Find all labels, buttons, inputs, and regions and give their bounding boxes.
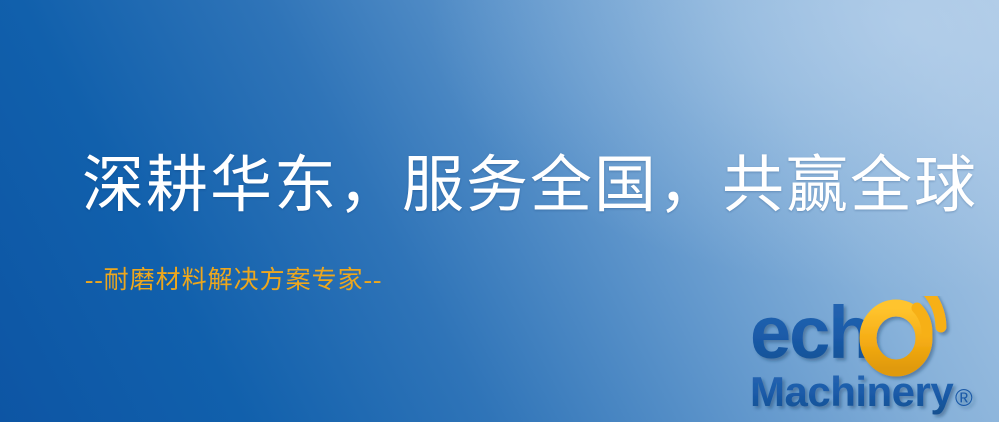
company-logo[interactable]: ech Machinery ® echo Machinery ® (744, 296, 996, 420)
svg-text:Machinery: Machinery (750, 368, 954, 415)
echo-machinery-logo-icon: ech Machinery ® (744, 296, 996, 420)
svg-text:ech: ech (750, 296, 872, 374)
svg-text:®: ® (955, 385, 973, 412)
promo-banner: 深耕华东，服务全国，共赢全球 --耐磨材料解决方案专家-- (0, 0, 999, 422)
banner-content: 深耕华东，服务全国，共赢全球 --耐磨材料解决方案专家-- (0, 0, 999, 422)
page-title: 深耕华东，服务全国，共赢全球 (82, 152, 978, 221)
banner-subtitle: --耐磨材料解决方案专家-- (85, 266, 382, 296)
